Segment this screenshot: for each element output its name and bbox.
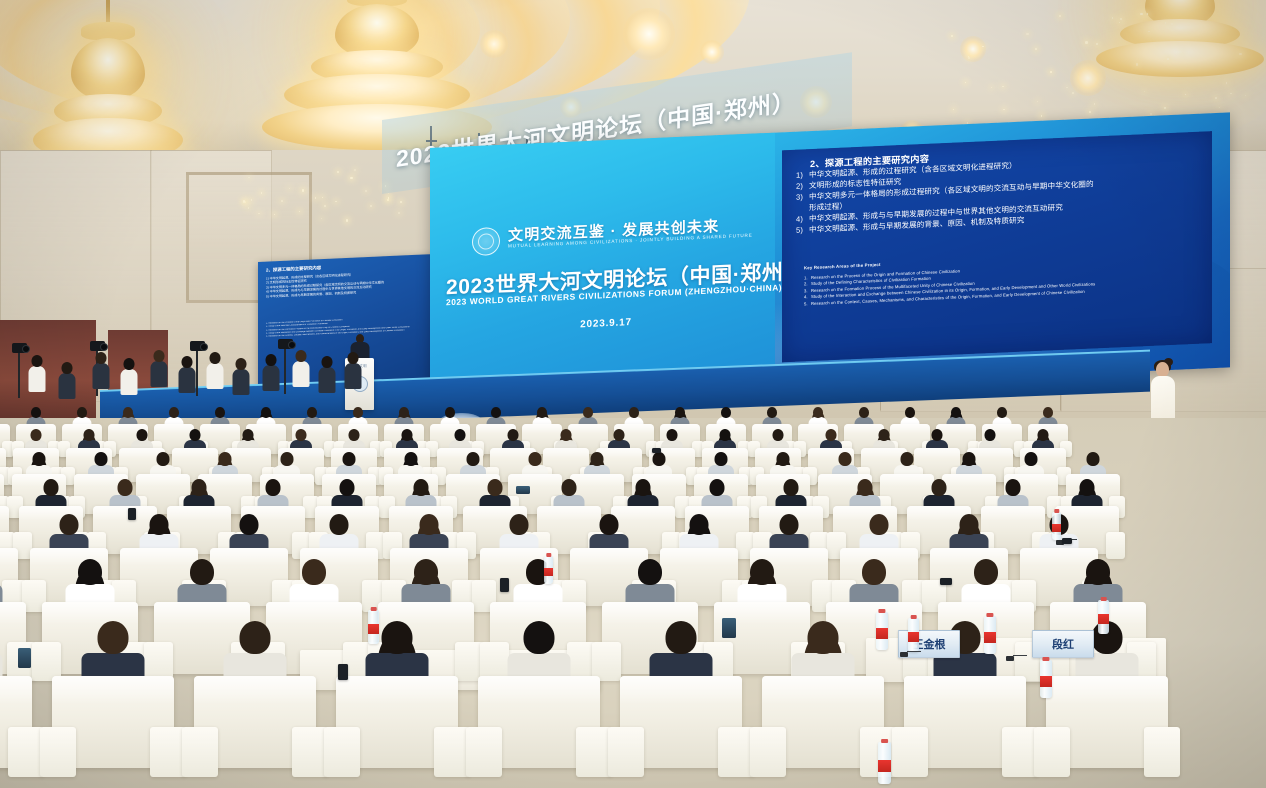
audience-member [150,350,167,388]
slide-cn-item-number: 5) [796,225,809,236]
wall-sparkle [982,46,983,47]
chair-armrest [40,727,77,778]
bottle-label [984,632,996,643]
head [562,479,577,496]
head [600,514,619,535]
head [951,407,961,418]
head [963,452,976,466]
wall-sparkle [1119,22,1120,23]
head [84,429,95,441]
head [31,429,42,441]
head [265,354,276,366]
slide-en-item-number: 5. [804,301,811,308]
camera-tripod [284,348,286,394]
wall-sparkle [1147,13,1148,14]
downlight [623,8,675,60]
head [1025,452,1038,466]
torso [150,361,167,387]
audience-member [92,352,109,390]
head [974,559,998,585]
head [414,559,438,585]
head [118,479,133,496]
head [420,514,439,535]
camera-lens [200,343,208,351]
head [636,479,651,496]
audience-member [206,352,223,390]
head [777,452,790,466]
microphone-base[interactable] [900,652,908,657]
audience-member [28,355,45,393]
head [561,429,572,441]
head [932,429,943,441]
head [985,429,996,441]
head [137,429,148,441]
head [31,355,42,367]
head [859,407,869,418]
head [190,559,214,585]
wall-sparkle [261,192,262,193]
head [321,356,332,368]
head [295,350,306,362]
head [235,358,246,370]
head [343,452,356,466]
wall-sparkle [1112,17,1113,18]
microphone-base[interactable] [1006,656,1014,661]
head [879,429,890,441]
mobile-phone[interactable] [652,448,661,453]
chair-armrest [466,727,503,778]
mobile-phone[interactable] [338,664,348,680]
slide-cn-item-number: 3) [796,192,809,203]
slide-cn-item-number: 2) [796,181,809,192]
microphone-gooseneck [907,651,921,652]
forum-title-board: 文明交流互鉴 · 发展共创未来 MUTUAL LEARNING AMONG CI… [430,133,775,403]
head [1087,452,1100,466]
wall-sparkle [1026,33,1028,35]
bottle-label [876,628,888,639]
head [61,362,72,374]
torso [178,367,195,393]
audience-member [232,358,249,396]
head [399,407,409,418]
bottle-label [368,624,379,634]
wall-sparkle [1230,93,1231,94]
head [44,479,59,496]
water-bottle[interactable] [876,612,888,650]
video-camera [190,341,205,351]
slide-heading-en: Key Research Areas of the Project [804,262,881,270]
wall-sparkle [302,189,304,191]
head [169,407,179,418]
head [690,514,709,535]
head [347,352,358,364]
wall-sparkle [1226,82,1227,83]
mobile-phone[interactable] [1062,538,1072,544]
water-bottle[interactable] [908,618,919,652]
bottle-label [1098,614,1109,624]
chair-armrest [576,727,613,778]
water-bottle[interactable] [368,610,379,644]
forum-date: 2023.9.17 [446,311,766,336]
downlight [960,36,986,62]
head [192,479,207,496]
wall-sparkle [1089,111,1091,113]
chair-armrest [608,727,645,778]
chair-armrest [150,727,187,778]
chair-armrest [750,727,787,778]
slide-cn-item-number: 4) [796,214,809,225]
microphone-gooseneck [1013,655,1027,656]
bottle-cap [1054,509,1059,513]
camera-tripod [18,352,20,398]
mobile-phone[interactable] [516,486,530,494]
bottle-cap [1100,597,1107,601]
head [813,407,823,418]
camera-lens [100,343,108,351]
torso [292,361,309,387]
head [750,559,774,585]
water-bottle[interactable] [1098,600,1109,634]
head [209,352,220,364]
head [414,479,429,496]
presentation-slide: 2、探源工程的主要研究内容 1)中华文明起源、形成的过程研究（含各区域文明化进程… [782,131,1212,362]
head [95,452,108,466]
camera-lens [22,345,30,353]
head [583,407,593,418]
head [261,407,271,418]
head [780,514,799,535]
head [488,479,503,496]
head [491,407,501,418]
head [153,350,164,362]
head [215,407,225,418]
head [666,621,697,654]
head [123,358,134,370]
head [839,452,852,466]
torso [120,369,137,395]
chair-armrest [1002,727,1039,778]
head [302,559,326,585]
head [240,514,259,535]
head [767,407,777,418]
chandelier-right [1080,0,1266,85]
torso [206,363,223,389]
head [862,559,886,585]
torso [344,363,361,389]
head [529,452,542,466]
audience-member [120,358,137,396]
wall-sparkle [1171,23,1173,25]
wall-sparkle [1035,48,1037,50]
head [340,479,355,496]
head [997,407,1007,418]
usher-head [1156,362,1169,377]
mobile-phone[interactable] [500,578,509,592]
head [784,479,799,496]
head [1043,407,1053,418]
water-bottle[interactable] [1040,660,1052,698]
head [382,621,413,654]
head [219,452,232,466]
torso [28,366,45,392]
wall-sparkle [1050,71,1052,73]
wall-sparkle [1219,107,1220,108]
head [675,407,685,418]
head [181,356,192,368]
head [614,429,625,441]
audience-member [344,352,361,390]
wall-sparkle [398,212,400,214]
chair-armrest [8,727,45,778]
camera-lens [288,341,296,349]
head [98,621,129,654]
audience-member [262,354,279,392]
wall-sparkle [1239,53,1241,55]
head [402,429,413,441]
bottle-label [908,632,919,642]
head [653,452,666,466]
wall-sparkle [243,200,245,202]
head [1038,429,1049,441]
head [932,479,947,496]
mobile-phone[interactable] [128,508,136,520]
wall-sparkle [1140,13,1142,15]
audience-member [58,362,75,400]
head [467,452,480,466]
head [720,429,731,441]
head [808,621,839,654]
head [960,514,979,535]
head [870,514,889,535]
bottle-cap [1042,657,1049,661]
torso [92,363,109,389]
head [190,429,201,441]
side-slide-cn-list: 1) 中华文明起源、形成的过程研究（含各区域文明化进程研究）2) 文明形成的标志… [266,269,432,299]
bottle-cap [370,607,377,611]
head [510,514,529,535]
head [508,429,519,441]
head [33,452,46,466]
head [445,407,455,418]
torso [262,365,279,391]
chair-armrest [182,727,219,778]
head [281,452,294,466]
name-placard-text: 段红 [1052,636,1074,652]
bottle-cap [910,615,917,619]
water-bottle[interactable] [984,616,996,654]
head [826,429,837,441]
bottle-label [1052,524,1061,532]
wall-sparkle [968,57,970,59]
wall-sparkle [1085,41,1088,44]
wall-sparkle [289,188,290,189]
chair-armrest [1144,727,1181,778]
mobile-phone[interactable] [940,578,952,585]
bottle-label [544,568,553,576]
bottle-cap [881,739,889,743]
head [77,407,87,418]
head [353,407,363,418]
head [710,479,725,496]
head [667,429,678,441]
mobile-phone[interactable] [722,618,736,638]
chair-armrest [292,727,329,778]
bottle-cap [878,609,885,613]
head [240,621,271,654]
head [330,514,349,535]
chandelier-tier-2 [1096,41,1264,77]
camera-tripod [196,350,198,396]
slide-cn-item-number: 1) [796,170,809,181]
video-camera [278,339,293,349]
torso [318,367,335,393]
head [405,452,418,466]
chandelier-rod [106,0,110,24]
wall-sparkle [400,201,402,203]
wall-sparkle [324,205,326,207]
head [31,407,41,418]
chair-armrest [718,727,755,778]
head [901,452,914,466]
audience-member [318,356,335,394]
head [1086,559,1110,585]
chair-armrest [455,642,484,682]
torso [232,369,249,395]
chandelier-body [71,38,145,100]
head [266,479,281,496]
head [537,407,547,418]
water-bottle[interactable] [544,556,553,584]
head [629,407,639,418]
chair-armrest [1106,532,1125,558]
head [1006,479,1021,496]
head [858,479,873,496]
name-placard: 段红 [1032,630,1094,658]
head [455,429,466,441]
bottle-cap [986,613,993,617]
wall-sparkle [248,177,249,178]
head [78,559,102,585]
head [773,429,784,441]
head [905,407,915,418]
wall-sparkle [1167,58,1169,60]
head [243,429,254,441]
wall-sparkle [321,218,322,219]
head [95,352,106,364]
head [157,452,170,466]
head [123,407,133,418]
mobile-phone[interactable] [18,648,31,668]
video-camera [12,343,27,353]
chair-armrest [434,727,471,778]
torso [58,373,75,399]
audience-member [178,356,195,394]
wall-sparkle [251,199,252,200]
forum-emblem-icon [472,227,500,256]
chair-armrest [1034,727,1071,778]
water-bottle[interactable] [878,742,891,784]
video-camera [90,341,105,351]
head [638,559,662,585]
head [721,407,731,418]
bottle-label [878,760,891,773]
head [591,452,604,466]
water-bottle[interactable] [1052,512,1061,540]
audience-member [292,350,309,388]
conference-hall-photo: 2023世界大河文明论坛（中国·郑州） 2、探源工程的主要研究内容 1) 中华文… [0,0,1266,788]
wall-sparkle [354,169,356,171]
wall-sparkle [346,219,348,221]
head [60,514,79,535]
head [715,452,728,466]
head [349,429,360,441]
head [307,407,317,418]
downlight [700,40,724,64]
head [296,429,307,441]
chair-armrest [892,727,929,778]
head [524,621,555,654]
bottle-cap [546,553,551,557]
head [1080,479,1095,496]
bottle-label [1040,676,1052,687]
wall-sparkle [350,177,352,179]
chair-armrest [324,727,361,778]
head [150,514,169,535]
